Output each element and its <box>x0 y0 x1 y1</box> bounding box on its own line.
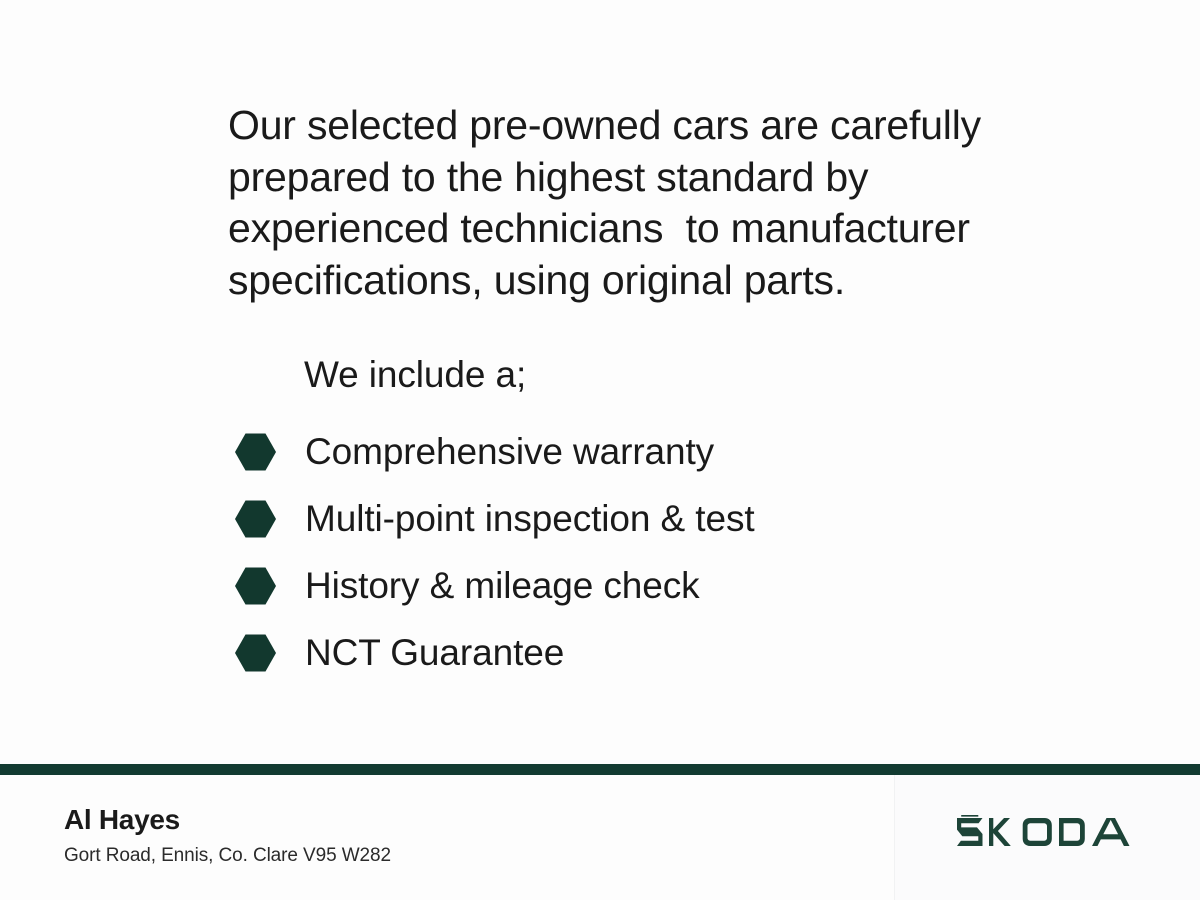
dealer-name: Al Hayes <box>64 803 391 836</box>
list-item-label: History & mileage check <box>305 564 700 608</box>
list-item: NCT Guarantee <box>228 619 1008 686</box>
list-item: Comprehensive warranty <box>228 418 1008 485</box>
main-content: Our selected pre-owned cars are carefull… <box>0 0 1200 765</box>
list-item-label: NCT Guarantee <box>305 631 564 675</box>
brand-divider-bar <box>0 764 1200 775</box>
inclusions-list: Comprehensive warranty Multi-point inspe… <box>228 418 1008 686</box>
hexagon-bullet-icon <box>234 633 277 673</box>
list-item: Multi-point inspection & test <box>228 485 1008 552</box>
footer: Al Hayes Gort Road, Ennis, Co. Clare V95… <box>0 775 1200 900</box>
list-item-label: Comprehensive warranty <box>305 430 714 474</box>
hexagon-bullet-icon <box>234 499 277 539</box>
skoda-wordmark-logo <box>955 815 1139 849</box>
list-item-label: Multi-point inspection & test <box>305 497 755 541</box>
include-intro-text: We include a; <box>304 352 526 398</box>
dealer-info: Al Hayes Gort Road, Ennis, Co. Clare V95… <box>64 803 391 867</box>
hexagon-bullet-icon <box>234 566 277 606</box>
page-title: Our selected pre-owned cars are carefull… <box>228 100 1018 306</box>
hexagon-bullet-icon <box>234 432 277 472</box>
slide-canvas: Our selected pre-owned cars are carefull… <box>0 0 1200 900</box>
list-item: History & mileage check <box>228 552 1008 619</box>
dealer-address: Gort Road, Ennis, Co. Clare V95 W282 <box>64 844 391 867</box>
